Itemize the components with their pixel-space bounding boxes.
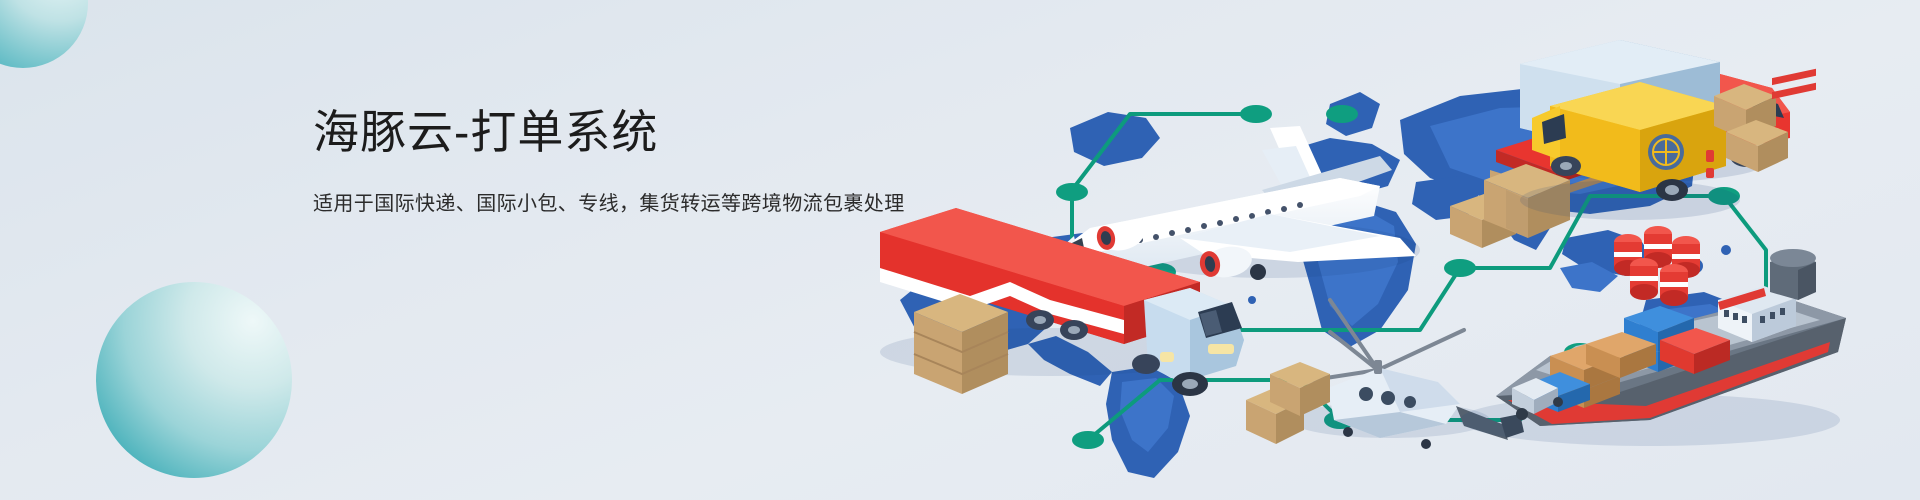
cardboard-boxes-left: [914, 294, 1008, 394]
hero-banner: 海豚云-打单系统 适用于国际快递、国际小包、专线，集货转运等跨境物流包裹处理: [0, 0, 1920, 500]
page-subtitle: 适用于国际快递、国际小包、专线，集货转运等跨境物流包裹处理: [313, 160, 953, 218]
banner-text-block: 海豚云-打单系统 适用于国际快递、国际小包、专线，集货转运等跨境物流包裹处理: [313, 105, 953, 218]
bubble-bottom-left-decoration: [96, 282, 292, 478]
oil-barrels: [1614, 226, 1700, 306]
page-title: 海豚云-打单系统: [313, 105, 953, 160]
global-logistics-illustration: [860, 0, 1920, 500]
bubble-top-left-decoration: [0, 0, 88, 68]
